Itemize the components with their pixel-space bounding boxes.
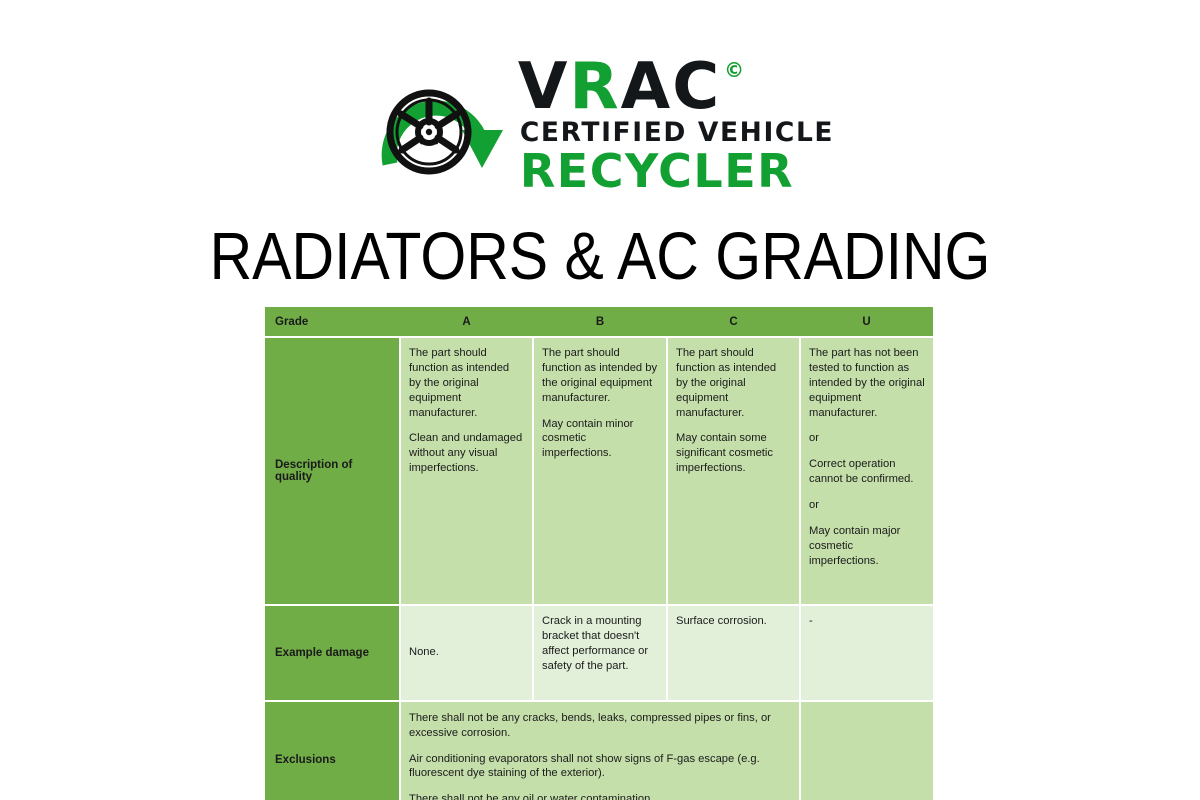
cell-exclusions-u [800, 701, 933, 800]
document-page: VRAC© CERTIFIED VEHICLE RECYCLER RADIATO… [0, 0, 1200, 800]
cell-example-a: None. [400, 605, 533, 701]
header-grade-u: U [800, 307, 933, 337]
logo-tagline-top: CERTIFIED VEHICLE [520, 120, 834, 147]
cell-exclusions-merged: There shall not be any cracks, bends, le… [400, 701, 800, 800]
row-label-description: Description of quality [265, 337, 400, 605]
cell-text: There shall not be any cracks, bends, le… [409, 711, 791, 741]
logo-letter-a: A [621, 58, 673, 117]
cell-text: or [809, 431, 925, 446]
header-grade-b: B [533, 307, 667, 337]
page-title: RADIATORS & AC GRADING [72, 218, 1128, 295]
cell-text: The part has not been tested to function… [809, 346, 925, 420]
recycling-wheel-logo-icon [366, 60, 512, 190]
cell-description-b: The part should function as intended by … [533, 337, 667, 605]
logo-letter-c: C [672, 58, 721, 117]
cell-text: or [809, 498, 925, 513]
cell-text: The part should function as intended by … [409, 346, 524, 420]
cell-text: May contain minor cosmetic imperfections… [542, 417, 658, 462]
table-header-row: Grade A B C U [265, 307, 933, 337]
logo-tagline-bottom: RECYCLER [520, 148, 794, 194]
cell-text: Air conditioning evaporators shall not s… [409, 752, 791, 782]
grading-table: Grade A B C U Description of quality The… [265, 307, 933, 800]
header-grade: Grade [265, 307, 400, 337]
cell-example-b: Crack in a mounting bracket that doesn't… [533, 605, 667, 701]
header-grade-c: C [667, 307, 800, 337]
logo-letter-r: R [569, 58, 620, 117]
logo-letter-v: V [518, 58, 570, 117]
cell-text: Clean and undamaged without any visual i… [409, 431, 524, 476]
header-grade-a: A [400, 307, 533, 337]
table-row-description: Description of quality The part should f… [265, 337, 933, 605]
row-label-example-damage: Example damage [265, 605, 400, 701]
logo-wordmark: VRAC© [518, 58, 743, 117]
cell-description-u: The part has not been tested to function… [800, 337, 933, 605]
table-row-exclusions: Exclusions There shall not be any cracks… [265, 701, 933, 800]
cell-text: The part should function as intended by … [676, 346, 791, 420]
cell-example-u: - [800, 605, 933, 701]
cell-text: May contain some significant cosmetic im… [676, 431, 791, 476]
cell-text: There shall not be any oil or water cont… [409, 792, 791, 800]
cell-text: None. [409, 645, 524, 660]
cell-description-a: The part should function as intended by … [400, 337, 533, 605]
cell-text: The part should function as intended by … [542, 346, 658, 406]
cell-example-c: Surface corrosion. [667, 605, 800, 701]
cell-text: Surface corrosion. [676, 614, 791, 629]
copyright-icon: © [724, 60, 746, 80]
cell-text: May contain major cosmetic imperfections… [809, 524, 925, 569]
table-row-example-damage: Example damage None. Crack in a mounting… [265, 605, 933, 701]
cell-text: Crack in a mounting bracket that doesn't… [542, 614, 658, 674]
cell-text: - [809, 614, 925, 629]
cell-text: Correct operation cannot be confirmed. [809, 457, 925, 487]
row-label-exclusions: Exclusions [265, 701, 400, 800]
vrac-logo: VRAC© CERTIFIED VEHICLE RECYCLER [0, 56, 1200, 194]
cell-description-c: The part should function as intended by … [667, 337, 800, 605]
